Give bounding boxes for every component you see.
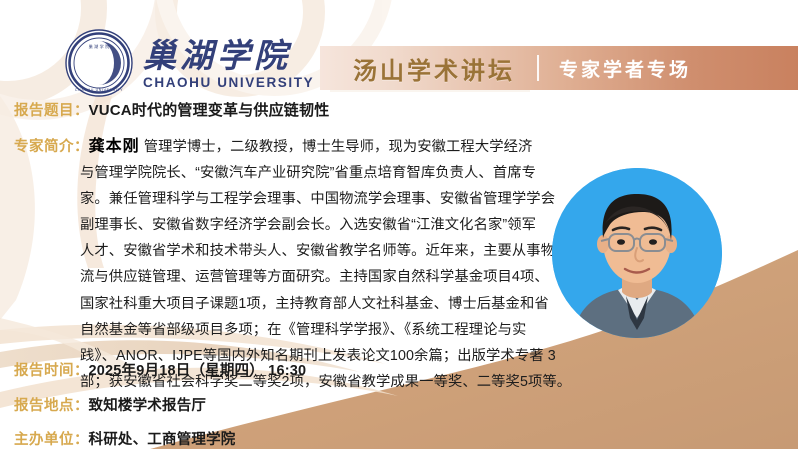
bio-text-7: 自然基金等省部级项目多项；在《管理科学学报》、《系统工程理论与实 [14, 317, 554, 343]
poster-content: 报告题目 ： VUCA时代的管理变革与供应链韧性 专家简介：龚本刚 管理学博士，… [0, 0, 798, 449]
talk-host-value: 科研处、工商管理学院 [89, 428, 236, 449]
talk-title-label: 报告题目 [14, 99, 74, 120]
talk-host-colon: ： [74, 428, 89, 449]
poster-canvas: 巢 湖 学 院 CHAOHU UNIVERSITY 巢湖学院 CHAOHU UN… [0, 0, 798, 449]
bio-text-3: 副理事长、安徽省数字经济学会副会长。入选安徽省“江淮文化名家”领军 [14, 212, 554, 238]
talk-host-row: 主办单位 ： 科研处、工商管理学院 [14, 428, 236, 449]
talk-place-colon: ： [74, 394, 89, 415]
bio-text-5: 流与供应链管理、运营管理等方面研究。主持国家自然科学基金项目4项、 [14, 264, 554, 290]
talk-host-label: 主办单位 [14, 428, 74, 449]
bio-text-4: 人才、安徽省学术和技术带头人、安徽省教学名师等。近年来，主要从事物 [14, 238, 554, 264]
bio-text-6: 国家社科重大项目子课题1项，主持教育部人文社科基金、博士后基金和省 [14, 291, 554, 317]
talk-title-row: 报告题目 ： VUCA时代的管理变革与供应链韧性 [14, 99, 329, 120]
bio-colon: ： [74, 139, 89, 155]
talk-time-colon: ： [74, 359, 89, 380]
bio-text-1: 与管理学院院长、“安徽汽车产业研究院”省重点培育智库负责人、首席专 [14, 160, 554, 186]
speaker-name: 龚本刚 [89, 138, 140, 155]
talk-time-row: 报告时间 ： 2025年9月18日（星期四） 16:30 [14, 359, 306, 380]
bio-line-first: 专家简介：龚本刚 管理学博士，二级教授，博士生导师，现为安徽工程大学经济 [14, 134, 554, 160]
bio-text-0: 管理学博士，二级教授，博士生导师，现为安徽工程大学经济 [140, 139, 533, 155]
talk-title-value: VUCA时代的管理变革与供应链韧性 [89, 99, 330, 120]
talk-place-label: 报告地点 [14, 394, 74, 415]
speaker-portrait-illustration [552, 168, 722, 338]
bio-label: 专家简介 [14, 139, 74, 155]
talk-place-row: 报告地点 ： 致知楼学术报告厅 [14, 394, 206, 415]
talk-time-label: 报告时间 [14, 359, 74, 380]
speaker-bio: 专家简介：龚本刚 管理学博士，二级教授，博士生导师，现为安徽工程大学经济 与管理… [14, 134, 554, 395]
talk-place-value: 致知楼学术报告厅 [89, 394, 207, 415]
bio-text-2: 家。兼任管理科学与工程学会理事、中国物流学会理事、安徽省管理学学会 [14, 186, 554, 212]
talk-title-colon: ： [74, 99, 89, 120]
talk-time-value: 2025年9月18日（星期四） 16:30 [89, 359, 307, 380]
speaker-photo [552, 168, 722, 338]
